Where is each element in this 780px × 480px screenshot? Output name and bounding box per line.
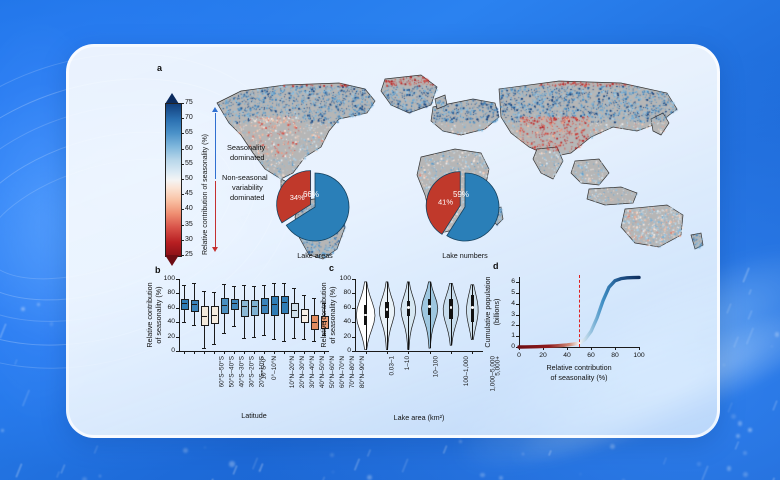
- boxplot-median: [221, 305, 227, 306]
- y-tick: [352, 337, 355, 338]
- boxplot-whisker-cap: [182, 285, 185, 286]
- panel-b: b 02040608010060°S–50°S50°S–40°S40°S–30°…: [143, 265, 343, 435]
- boxplot-whisker-cap: [252, 337, 255, 338]
- seasonality-arrow-line: [215, 113, 216, 179]
- boxplot-whisker-cap: [272, 283, 275, 284]
- boxplot-whisker-cap: [302, 339, 305, 340]
- pie-label-lake-numbers: Lake numbers: [415, 251, 515, 260]
- y-tick: [352, 351, 355, 352]
- x-tick: [408, 351, 409, 354]
- boxplot-box: [221, 298, 229, 314]
- x-tick: [214, 351, 215, 354]
- x-tick: [204, 351, 205, 354]
- x-tick-label: 40: [557, 352, 577, 359]
- colorbar-tick-label: 75: [185, 99, 193, 106]
- x-tick: [184, 351, 185, 354]
- x-axis-line: [355, 351, 483, 352]
- x-axis-label: Lake area (km²): [345, 413, 493, 422]
- colorbar-tick-label: 50: [185, 175, 193, 182]
- legend-nonseasonal-line3: dominated: [230, 193, 265, 202]
- colorbar-tick: [181, 133, 184, 134]
- boxplot-median: [201, 316, 207, 317]
- boxplot-box: [271, 296, 279, 315]
- boxplot-whisker-cap: [222, 333, 225, 334]
- y-tick: [176, 322, 179, 323]
- y-tick: [352, 293, 355, 294]
- colorbar-tick: [181, 240, 184, 241]
- colorbar-tick-label: 35: [185, 221, 193, 228]
- x-tick: [366, 351, 367, 354]
- colorbar-tick: [181, 255, 184, 256]
- boxplot-whisker-cap: [292, 288, 295, 289]
- colorbar-tick: [181, 149, 184, 150]
- y-axis-line: [179, 279, 180, 351]
- boxplot-median: [271, 304, 277, 305]
- panel-c: c 0204060801000.03–11–1010–100100–1,0001…: [315, 265, 505, 435]
- x-tick: [264, 351, 265, 354]
- x-tick-label: 10–100: [433, 356, 440, 377]
- legend-nonseasonal-line2: variability: [232, 183, 263, 192]
- x-tick-label: 40°S–30°S: [238, 356, 245, 387]
- boxplot-whisker-cap: [262, 335, 265, 336]
- x-tick: [244, 351, 245, 354]
- nonseasonal-arrow-line: [215, 181, 216, 247]
- colorbar-tick: [181, 164, 184, 165]
- x-tick-label: 60: [581, 352, 601, 359]
- boxplot-whisker-cap: [242, 285, 245, 286]
- colorbar-tick-label: 45: [185, 190, 193, 197]
- boxplot-whisker-cap: [292, 338, 295, 339]
- violin-median-dot: [407, 306, 410, 309]
- legend-seasonality-line1: Seasonality: [227, 143, 265, 152]
- y-axis-line: [355, 279, 356, 351]
- pie-blue-label: 66%: [303, 190, 319, 199]
- x-tick: [284, 351, 285, 354]
- x-tick-label: 20: [533, 352, 553, 359]
- cumulative-curve: [481, 265, 645, 353]
- y-tick: [352, 308, 355, 309]
- colorbar-tick-label: 30: [185, 236, 193, 243]
- legend-nonseasonal-line1: Non-seasonal: [222, 173, 268, 182]
- x-tick-label: 0.03–1: [388, 356, 395, 376]
- colorbar-tick: [181, 179, 184, 180]
- x-axis-label: Relative contributionof seasonality (%): [499, 363, 659, 383]
- boxplot-median: [231, 303, 237, 304]
- y-tick: [176, 279, 179, 280]
- boxplot-whisker-cap: [232, 326, 235, 327]
- legend-seasonality-line2: dominated: [230, 153, 265, 162]
- x-tick-label: 100: [629, 352, 649, 359]
- pie-red-label: 41%: [438, 197, 453, 206]
- boxplot-box: [251, 300, 259, 316]
- x-tick: [194, 351, 195, 354]
- boxplot-box: [291, 303, 299, 318]
- boxplot-whisker-cap: [212, 292, 215, 293]
- x-tick: [451, 351, 452, 354]
- x-tick-label: 30°S–20°S: [248, 356, 255, 387]
- x-tick: [224, 351, 225, 354]
- boxplot-median: [301, 315, 307, 316]
- y-tick: [352, 322, 355, 323]
- x-tick-label: 50°S–40°S: [228, 356, 235, 387]
- pie-label-lake-areas: Lake areas: [265, 251, 365, 260]
- y-tick: [176, 337, 179, 338]
- boxplot-whisker-cap: [252, 286, 255, 287]
- violin-median-dot: [428, 305, 431, 308]
- boxplot-median: [241, 306, 247, 307]
- x-tick-label: 100–1,000: [463, 356, 470, 386]
- boxplot-whisker-cap: [272, 339, 275, 340]
- pie-lake-numbers: 59%41%: [419, 161, 511, 253]
- boxplot-whisker-cap: [202, 291, 205, 292]
- x-tick-label: 10°S–0°: [261, 356, 268, 380]
- nonseasonal-arrow-head-icon: [212, 247, 218, 252]
- boxplot-whisker-cap: [232, 286, 235, 287]
- pie-blue-label: 59%: [453, 190, 469, 199]
- boxplot-whisker-cap: [202, 348, 205, 349]
- boxplot-median: [181, 303, 187, 304]
- boxplot-median: [261, 305, 267, 306]
- pie-red-label: 34%: [290, 193, 305, 202]
- colorbar-title: Relative contribution of seasonality (%): [202, 134, 209, 255]
- violin-median-dot: [386, 308, 389, 311]
- boxplot-box: [191, 300, 199, 312]
- y-axis-label: Cumulative population(billions): [483, 269, 501, 355]
- x-tick: [387, 351, 388, 354]
- boxplot-whisker-cap: [222, 284, 225, 285]
- boxplot-whisker-cap: [282, 283, 285, 284]
- y-tick: [176, 308, 179, 309]
- y-tick: [176, 293, 179, 294]
- colorbar-tick: [181, 118, 184, 119]
- colorbar: [165, 103, 182, 257]
- boxplot-median: [191, 304, 197, 305]
- x-tick: [294, 351, 295, 354]
- figure-screenshot: a 2530354045505560657075 Relative contri…: [0, 0, 780, 480]
- colorbar-tick-label: 65: [185, 129, 193, 136]
- boxplot-median: [291, 310, 297, 311]
- colorbar-tick: [181, 209, 184, 210]
- boxplot-whisker-cap: [302, 295, 305, 296]
- x-tick: [234, 351, 235, 354]
- colorbar-tick-label: 40: [185, 205, 193, 212]
- boxplot-box: [281, 296, 289, 314]
- x-tick-label: 1–10: [404, 356, 411, 370]
- boxplot-box: [231, 299, 239, 310]
- y-axis-label: Relative contributionof seasonality (%): [319, 279, 337, 351]
- x-tick-label: 10°N–20°N: [289, 356, 296, 388]
- colorbar-tick-label: 70: [185, 114, 193, 121]
- panel-a: a 2530354045505560657075 Relative contri…: [69, 47, 717, 275]
- panel-c-label: c: [329, 263, 334, 273]
- boxplot-median: [281, 302, 287, 303]
- boxplot-box: [181, 299, 189, 310]
- colorbar-tick: [181, 194, 184, 195]
- boxplot-whisker-cap: [262, 285, 265, 286]
- seasonality-arrow-head-icon: [212, 107, 218, 112]
- boxplot-median: [211, 315, 217, 316]
- boxplot-median: [251, 306, 257, 307]
- panel-b-label: b: [155, 265, 161, 275]
- x-tick-label: 20°N–30°N: [299, 356, 306, 388]
- x-axis-label: Latitude: [179, 411, 329, 420]
- colorbar-tick-label: 55: [185, 160, 193, 167]
- colorbar-tick: [181, 225, 184, 226]
- boxplot-whisker-cap: [282, 341, 285, 342]
- violin-range-line: [430, 282, 431, 348]
- x-tick-label: 80: [605, 352, 625, 359]
- threshold-dashed-line: [579, 275, 580, 347]
- boxplot-whisker-cap: [192, 283, 195, 284]
- x-tick-label: 60°S–50°S: [218, 356, 225, 387]
- boxplot-whisker-cap: [192, 325, 195, 326]
- boxplot-whisker-cap: [182, 322, 185, 323]
- colorbar-tick-label: 60: [185, 145, 193, 152]
- y-tick: [176, 351, 179, 352]
- x-tick: [472, 351, 473, 354]
- boxplot-box: [301, 309, 309, 323]
- x-tick-label: 0: [509, 352, 529, 359]
- x-tick: [274, 351, 275, 354]
- x-tick: [430, 351, 431, 354]
- pie-lake-areas: 66%34%: [269, 161, 361, 253]
- x-tick: [304, 351, 305, 354]
- panel-d: d 0123456020406080100Cumulative populati…: [481, 265, 681, 435]
- boxplot-box: [261, 298, 269, 314]
- x-tick: [254, 351, 255, 354]
- y-axis-label: Relative contributionof seasonality (%): [145, 279, 163, 351]
- panel-a-label: a: [157, 63, 162, 73]
- boxplot-whisker-cap: [212, 344, 215, 345]
- figure-card: a 2530354045505560657075 Relative contri…: [66, 44, 720, 438]
- colorbar-tick: [181, 103, 184, 104]
- x-tick-label: 0°–10°N: [271, 356, 278, 380]
- y-tick: [352, 279, 355, 280]
- boxplot-box: [241, 300, 249, 317]
- boxplot-whisker-cap: [242, 338, 245, 339]
- violin-median-dot: [471, 306, 474, 309]
- colorbar-tick-label: 25: [185, 251, 193, 258]
